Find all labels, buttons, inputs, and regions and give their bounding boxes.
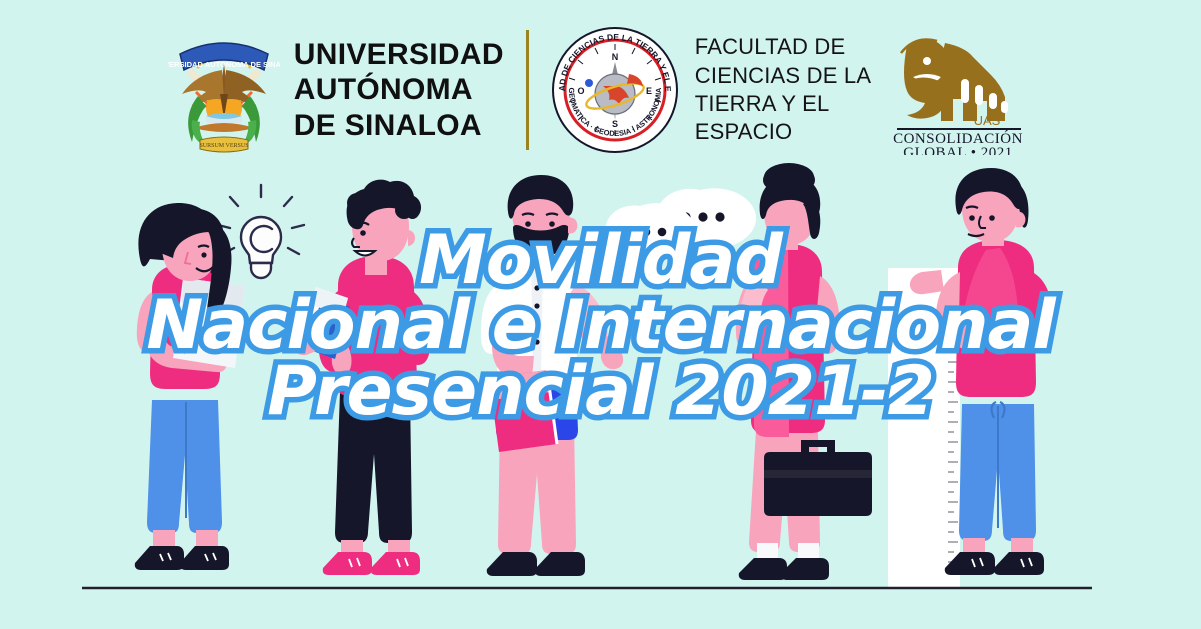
crest-scroll-text: SURSUM VERSUS	[199, 143, 248, 149]
character-student-woman-briefcase	[736, 163, 872, 580]
consolidacion-global-aqueduct-icon: UAS CONSOLIDACIÓN GLOBAL • 2021	[883, 25, 1033, 155]
faculty-name: FACULTAD DE CIENCIAS DE LA TIERRA Y EL E…	[695, 33, 871, 147]
header-logos: UNIVERSIDAD AUTONOMA DE SINALOA	[0, 0, 1201, 180]
compass-south-label: S	[612, 119, 618, 129]
character-student-man-bearded-folder	[481, 175, 623, 576]
campaign-initials: UAS	[974, 113, 1001, 128]
campaign-line2: GLOBAL • 2021	[903, 145, 1013, 155]
university-name: UNIVERSIDAD AUTÓNOMA DE SINALOA	[294, 37, 504, 142]
speech-bubbles-icon	[606, 188, 756, 266]
compass-west-label: O	[577, 86, 584, 96]
university-logo-block: UNIVERSIDAD AUTONOMA DE SINALOA	[168, 24, 504, 156]
poster-canvas: UNIVERSIDAD AUTONOMA DE SINALOA	[0, 0, 1201, 629]
compass-north-label: N	[612, 52, 619, 62]
uas-eagle-crest-icon: UNIVERSIDAD AUTONOMA DE SINALOA	[168, 24, 280, 156]
logo-divider	[526, 30, 529, 150]
character-student-woman-papers	[135, 203, 245, 570]
faculty-logo-block: FACULTAD DE CIENCIAS DE LA TIERRA Y EL E…	[551, 26, 871, 154]
compass-east-label: E	[646, 86, 652, 96]
character-student-man-chart	[888, 168, 1053, 588]
compass-globe-seal-icon: FACULTAD DE CIENCIAS DE LA TIERRA Y EL E…	[551, 26, 679, 154]
character-student-man-book	[292, 180, 430, 575]
